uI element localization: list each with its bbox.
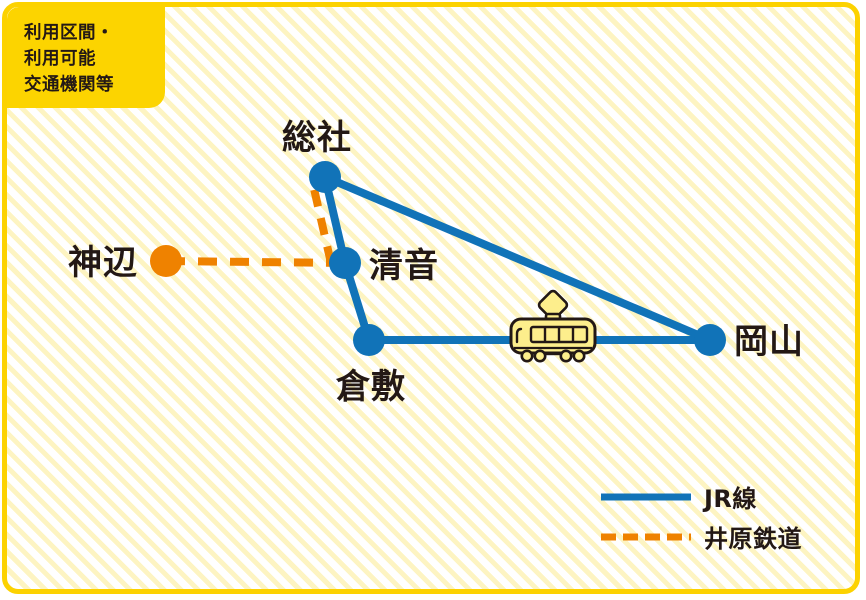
title-badge-line-3: 交通機関等 <box>24 72 165 98</box>
title-badge-line-1: 利用区間・ <box>24 20 165 46</box>
legend-item-jr: JR線 <box>600 479 757 514</box>
tram-icon <box>505 288 601 366</box>
title-badge: 利用区間・ 利用可能 交通機関等 <box>7 7 165 108</box>
legend-swatch-ibara <box>600 528 692 546</box>
legend-swatch-jr <box>600 488 692 506</box>
legend-label-ibara: 井原鉄道 <box>704 519 802 554</box>
transit-map-root: 総社 清音 神辺 倉敷 岡山 <box>0 0 866 600</box>
title-badge-line-2: 利用可能 <box>24 46 165 72</box>
map-frame: 総社 清音 神辺 倉敷 岡山 <box>2 2 860 594</box>
legend-label-jr: JR線 <box>704 479 757 514</box>
legend-item-ibara: 井原鉄道 <box>600 519 802 554</box>
